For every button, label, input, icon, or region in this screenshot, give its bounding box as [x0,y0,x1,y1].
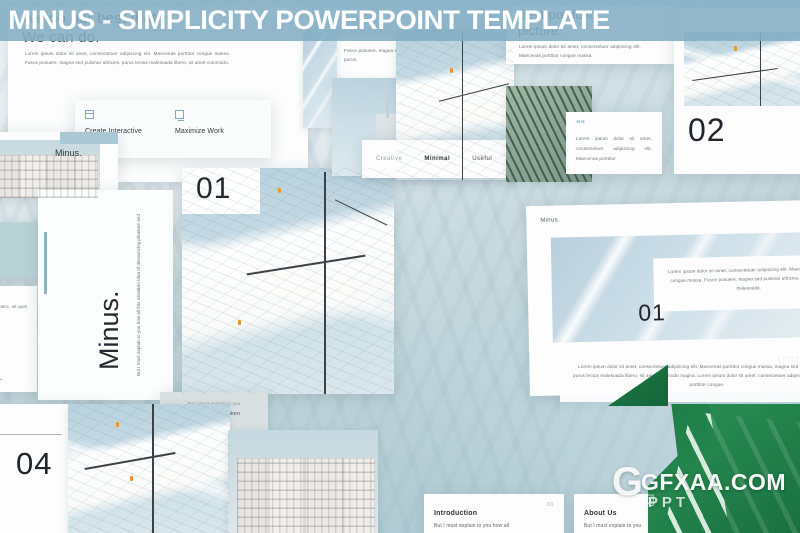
card-title: About Us [584,510,617,517]
divider [0,434,62,435]
tower-spire [386,96,389,118]
boom-line [692,68,777,81]
left-paragraph: consectetuer congue pulvinar libero, sit… [0,302,27,323]
vertical-brand: Minus. [94,290,125,370]
card-subtitle: But I must explain to you how all [434,523,556,529]
slide-vertical-minus[interactable]: Minus. But I must explain to you how all… [38,190,173,400]
intro-brand-label: Minus. [540,217,560,223]
detail-marker [238,320,241,325]
boom-line [85,452,176,470]
detail-marker [734,46,737,51]
quote-paragraph: Lorem ipsum dolor sit amet, consectetuer… [576,134,652,164]
detail-marker [116,422,119,427]
mast-line [462,32,463,180]
rigging-line [335,199,388,226]
slide-number-02-label: 02 [688,112,726,149]
slide-number-01-sailboat[interactable]: 01 [182,168,394,394]
slide-building[interactable] [0,132,118,198]
template-preview-canvas: We do our best that We can do. Lorem ips… [0,0,800,533]
intro-overlay-card[interactable]: Lorem ipsum dolor sit amet, consectetuer… [653,254,800,311]
slide-number-04-label: 04 [16,446,52,482]
archive-icon [85,110,94,119]
mast-line [324,172,326,394]
intro-body-paragraph: Lorem ipsum dolor sit amet, consectetuer… [572,362,800,390]
building-photo-bottom [228,430,378,533]
hero-brand-label: Minus. [55,148,82,158]
boom-line [439,83,509,102]
title-banner: MINUS - SIMPLICITY POWERPOINT TEMPLATE [0,0,800,41]
sailboat-photo [182,168,394,394]
vertical-caption: But I must explain to you how all this m… [134,206,144,376]
feature-title: Maximize Work [175,128,259,135]
feature-item-maximize-work[interactable]: Maximize Work [175,110,259,135]
card-title: Introduction [434,510,477,517]
quote-icon: ”” [576,120,585,129]
boom-line [247,255,366,275]
page-title: MINUS - SIMPLICITY POWERPOINT TEMPLATE [0,5,610,36]
card-introduction[interactable]: 01 Introduction But I must explain to yo… [424,494,564,533]
sailboat-photo-top [396,30,514,180]
hero-paragraph: Lorem ipsum dolor sit amet, consectetuer… [25,49,230,67]
sailboat-photo-02 [684,32,800,106]
slide-left-text[interactable]: consectetuer congue pulvinar libero, sit… [0,286,37,392]
slide-quote-card[interactable]: ”” Lorem ipsum dolor sit amet, consectet… [566,112,662,174]
card-badge: 01 [547,502,554,508]
divider [0,379,2,380]
mast-line [152,404,154,533]
portfolio-paragraph: Lorem ipsum dolor sit amet, consectetuer… [519,42,641,60]
sailboat-photo-bottom [68,404,230,533]
detail-marker [450,68,453,73]
intro-overlay-paragraph: Lorem ipsum dolor sit amet, consectetuer… [663,264,800,295]
detail-marker [130,476,133,481]
intro-number: 01 [638,299,666,327]
accent-block [60,132,118,144]
accent-bar-vertical [44,232,47,294]
detail-marker [278,188,281,193]
monitor-icon [175,110,184,119]
building-photo [0,140,100,198]
mast-line [760,32,761,106]
slide-intro-paragraph-strip[interactable]: Lorem ipsum dolor sit amet, consectetuer… [560,352,800,402]
monstera-leaf-photo [648,404,800,533]
